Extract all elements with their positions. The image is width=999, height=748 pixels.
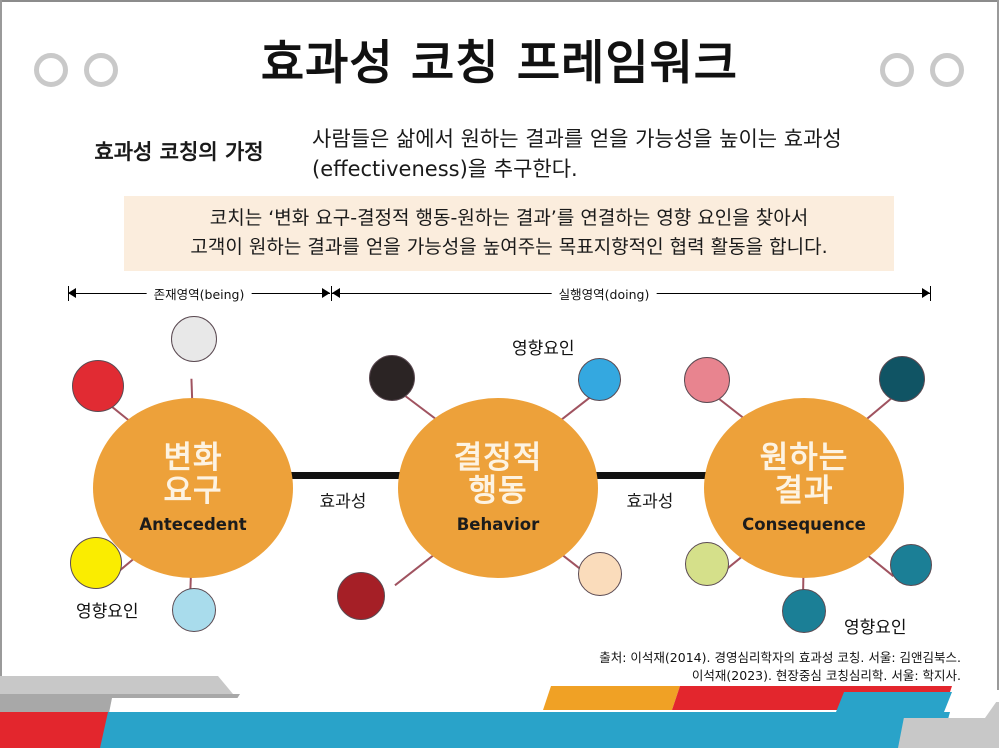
slide-title: 효과성 코칭 프레임워크 xyxy=(0,38,999,90)
axis-arrow-right-icon xyxy=(922,288,930,298)
statement-line-1: 코치는 ‘변화 요구-결정적 행동-원하는 결과’를 연결하는 영향 요인을 찾… xyxy=(134,204,884,233)
slide-root: 효과성 코칭 프레임워크 효과성 코칭의 가정 사람들은 삶에서 원하는 결과를… xyxy=(0,0,999,748)
satellite-yellowgreen xyxy=(685,542,729,586)
node-a-factor-label: 영향요인 xyxy=(76,597,139,622)
en-rest-c: onsequence xyxy=(754,515,866,534)
big-circle-behavior-kr1: 결정적 xyxy=(454,442,543,475)
footer-shapes xyxy=(0,672,999,748)
big-circle-behavior-kr2: 행동 xyxy=(468,475,527,508)
satellite-peach xyxy=(578,552,622,596)
source-line-1: 출처: 이석재(2014). 경영심리학자의 효과성 코칭. 서울: 김앤김북스… xyxy=(599,649,961,667)
axis-cap-right xyxy=(930,286,931,301)
axis-arrow-mid-right-icon xyxy=(322,288,330,298)
big-circle-behavior: 결정적 행동 Behavior xyxy=(398,398,598,578)
satellite-darkteal xyxy=(879,356,925,402)
big-circle-antecedent: 변화 요구 Antecedent xyxy=(93,398,293,578)
satellite-black xyxy=(369,355,415,401)
frame-top-border xyxy=(0,0,999,2)
satellite-blue xyxy=(578,358,621,401)
en-rest-a: ntecedent xyxy=(152,515,246,534)
en-initial-b: B xyxy=(457,515,470,534)
connector-bar-a-to-b xyxy=(281,472,406,479)
satellite-teal-bottom xyxy=(782,589,826,633)
satellite-darkred xyxy=(337,572,385,620)
assumption-text: 사람들은 삶에서 원하는 결과를 얻을 가능성을 높이는 효과성(effecti… xyxy=(312,124,932,185)
assumption-label: 효과성 코칭의 가정 xyxy=(54,136,304,166)
node-b-factor-label: 영향요인 xyxy=(512,334,575,359)
big-circle-antecedent-en: Antecedent xyxy=(139,515,246,534)
big-circle-consequence-kr1: 원하는 xyxy=(760,442,849,475)
en-rest-b: ehavior xyxy=(469,515,539,534)
big-circle-antecedent-kr2: 요구 xyxy=(163,475,222,508)
big-circle-consequence-kr2: 결과 xyxy=(774,475,833,508)
satellite-pink xyxy=(684,357,730,403)
big-circle-consequence: 원하는 결과 Consequence xyxy=(704,398,904,578)
big-circle-behavior-en: Behavior xyxy=(457,515,540,534)
satellite-teal-right xyxy=(890,544,932,586)
statement-line-2: 고객이 원하는 결과를 얻을 가능성을 높여주는 목표지향적인 협력 활동을 합… xyxy=(134,233,884,262)
big-circle-consequence-en: Consequence xyxy=(742,515,866,534)
connector-label-effectiveness-2: 효과성 xyxy=(590,487,710,512)
en-initial-c: C xyxy=(742,515,754,534)
connector-label-effectiveness-1: 효과성 xyxy=(283,487,403,512)
framework-diagram: 효과성 효과성 영향요인 변화 요구 Antecedent 영향요인 결정적 행… xyxy=(0,300,999,645)
satellite-lightblue xyxy=(172,588,216,632)
big-circle-antecedent-kr1: 변화 xyxy=(163,442,222,475)
satellite-yellow xyxy=(70,537,122,589)
connector-bar-b-to-c xyxy=(588,472,711,479)
footer-banner: 코치올 생각 파트너 이석재 ⓒ 2024 xyxy=(0,672,999,748)
satellite-gray xyxy=(171,316,217,362)
statement-box: 코치는 ‘변화 요구-결정적 행동-원하는 결과’를 연결하는 영향 요인을 찾… xyxy=(124,196,894,271)
node-c-factor-label: 영향요인 xyxy=(844,613,907,638)
satellite-red xyxy=(72,360,124,412)
en-initial-a: A xyxy=(139,515,152,534)
